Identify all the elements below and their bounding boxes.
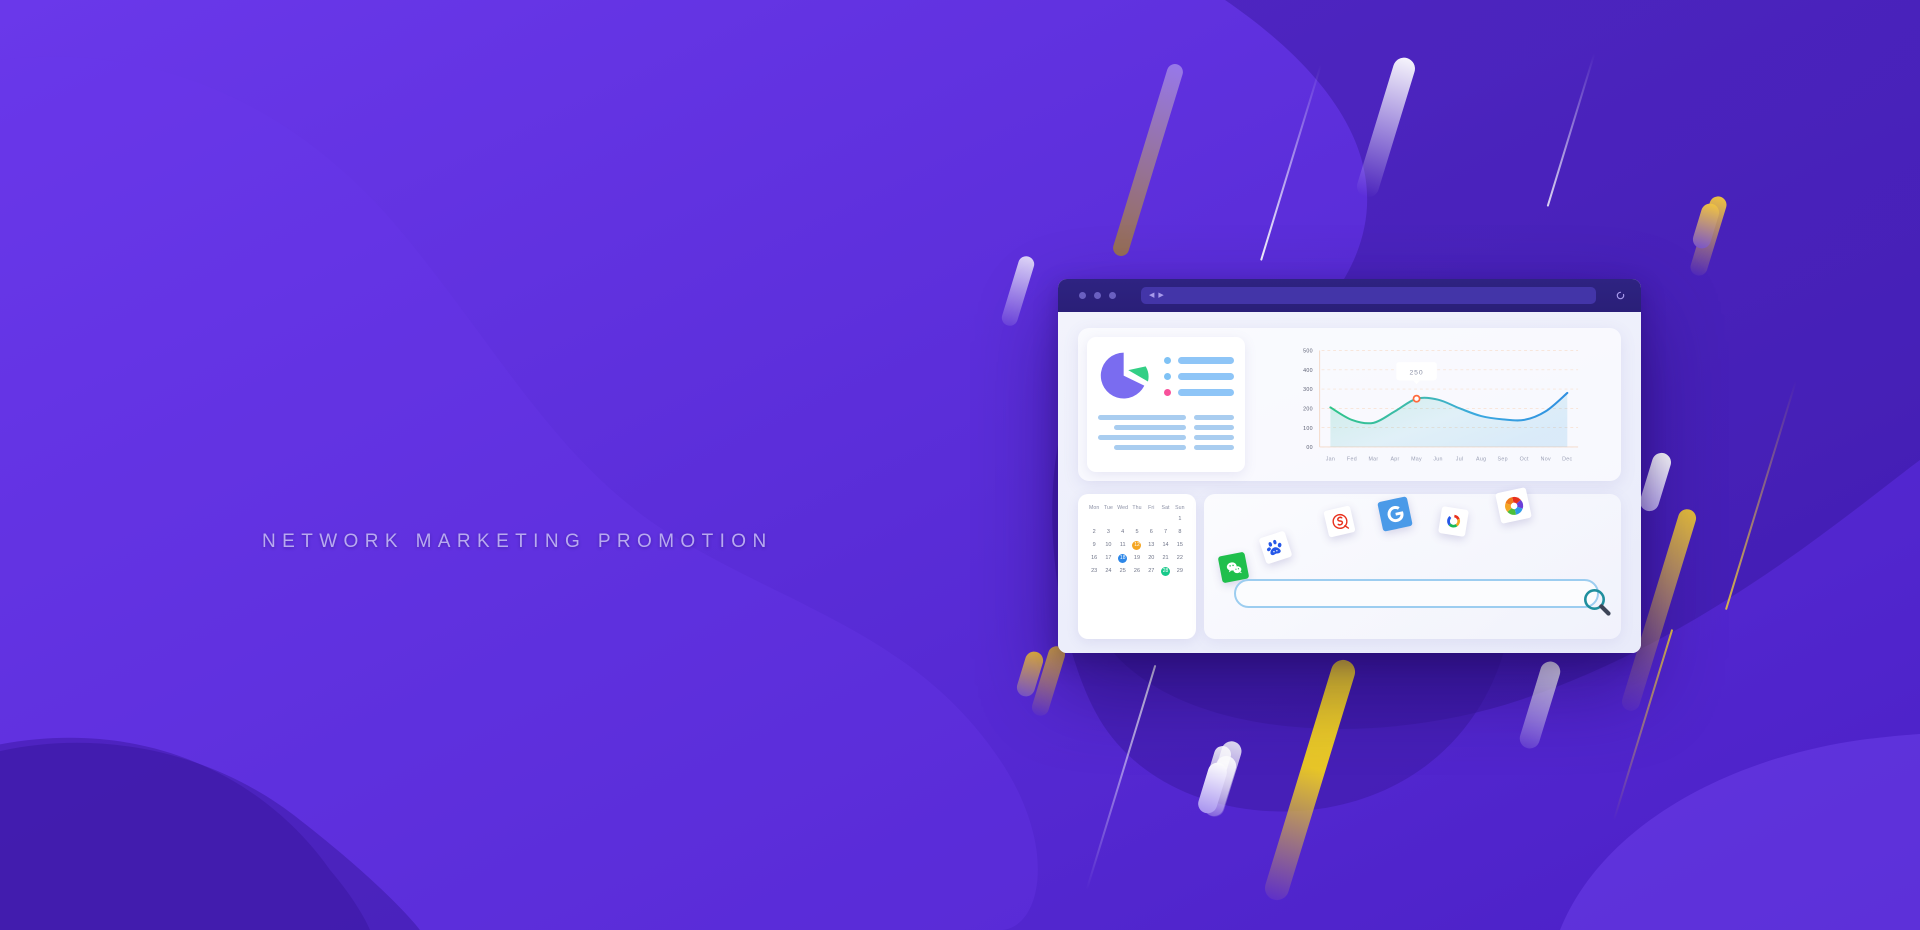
placeholder-line	[1114, 425, 1186, 430]
placeholder-lines-left	[1098, 415, 1186, 450]
maximize-dot-icon[interactable]	[1109, 292, 1116, 299]
calendar-day-cell[interactable]: 18	[1116, 554, 1130, 563]
chart-x-tick-label: Dec	[1562, 456, 1572, 462]
calendar-day-cell[interactable]: 29	[1173, 567, 1187, 576]
chart-y-tick-label: 300	[1303, 387, 1313, 393]
page-root: NETWORK MARKETING PROMOTION ◀ ▶	[0, 0, 1920, 930]
calendar-day-cell[interactable]: 20	[1144, 554, 1158, 563]
chart-x-axis: JanFedMarAprMayJunJulAugSepOctNovDec	[1326, 456, 1573, 462]
pie-legend-row	[1164, 389, 1234, 396]
close-dot-icon[interactable]	[1079, 292, 1086, 299]
calendar-day-cell[interactable]: 10	[1101, 541, 1115, 550]
google-icon[interactable]	[1377, 496, 1413, 532]
legend-dot-icon	[1164, 389, 1171, 396]
calendar-weekday-header: Tue	[1101, 505, 1115, 511]
chart-tooltip-tail	[1413, 380, 1420, 384]
baidu-icon[interactable]	[1258, 530, 1292, 564]
pie-chart-row	[1098, 349, 1234, 404]
dashboard-bottom-panel: MonTueWedThuFriSatSun1234567891011121314…	[1078, 494, 1621, 639]
calendar-day-cell[interactable]: 16	[1087, 554, 1101, 563]
calendar-weekday-header: Wed	[1116, 505, 1130, 511]
calendar-day-cell[interactable]: 8	[1173, 528, 1187, 537]
search-icon[interactable]	[1581, 586, 1613, 623]
placeholder-line	[1098, 435, 1186, 440]
calendar-weekday-header: Sat	[1158, 505, 1172, 511]
calendar-day-cell[interactable]: 5	[1130, 528, 1144, 537]
calendar-day-cell[interactable]: 23	[1087, 567, 1101, 576]
pie-chart-card	[1087, 337, 1245, 472]
page-title: NETWORK MARKETING PROMOTION	[262, 531, 773, 553]
browser-viewport: 50040030020010000 250 JanFedMarAprMayJun…	[1058, 312, 1641, 653]
address-bar[interactable]: ◀ ▶	[1141, 287, 1596, 304]
browser-titlebar: ◀ ▶	[1058, 279, 1641, 312]
calendar-day-cell[interactable]: 3	[1101, 528, 1115, 537]
chart-tooltip-value: 250	[1409, 370, 1423, 377]
placeholder-text-block	[1098, 415, 1234, 450]
placeholder-line	[1114, 445, 1186, 450]
search-panel	[1204, 494, 1621, 639]
line-chart: 50040030020010000 250 JanFedMarAprMayJun…	[1251, 337, 1612, 472]
chart-x-tick-label: Oct	[1520, 456, 1529, 462]
pie-legend	[1164, 357, 1234, 396]
calendar-blank-cell	[1144, 515, 1158, 524]
calendar-day-cell[interactable]: 12	[1130, 541, 1144, 550]
placeholder-line	[1098, 415, 1186, 420]
calendar-day-cell[interactable]: 24	[1101, 567, 1115, 576]
calendar-day-cell[interactable]: 22	[1173, 554, 1187, 563]
sogou-icon[interactable]	[1323, 505, 1355, 537]
aperture-icon[interactable]	[1495, 487, 1532, 524]
calendar-day-cell[interactable]: 4	[1116, 528, 1130, 537]
calendar-day-cell[interactable]: 15	[1173, 541, 1187, 550]
calendar-day-highlight: 12	[1132, 541, 1141, 550]
calendar-day-cell[interactable]: 7	[1158, 528, 1172, 537]
calendar-day-cell[interactable]: 17	[1101, 554, 1115, 563]
calendar-day-cell[interactable]: 26	[1130, 567, 1144, 576]
legend-dot-icon	[1164, 357, 1171, 364]
pie-chart	[1098, 349, 1153, 404]
calendar-day-cell[interactable]: 27	[1144, 567, 1158, 576]
calendar-day-highlight: 18	[1118, 554, 1127, 563]
chart-x-tick-label: Nov	[1541, 456, 1551, 462]
chart-y-tick-label: 100	[1303, 426, 1313, 432]
line-chart-card: 50040030020010000 250 JanFedMarAprMayJun…	[1249, 337, 1612, 472]
legend-dot-icon	[1164, 373, 1171, 380]
calendar-weekday-header: Sun	[1173, 505, 1187, 511]
search-input-wrapper[interactable]	[1234, 579, 1599, 608]
calendar-day-cell[interactable]: 13	[1144, 541, 1158, 550]
chart-x-tick-label: Fed	[1347, 456, 1357, 462]
calendar-day-cell[interactable]: 6	[1144, 528, 1158, 537]
chart-x-tick-label: Mar	[1368, 456, 1378, 462]
placeholder-line	[1194, 445, 1234, 450]
legend-bar	[1178, 357, 1234, 364]
chart-area-fill	[1330, 393, 1567, 447]
calendar-day-cell[interactable]: 21	[1158, 554, 1172, 563]
chart-y-tick-label: 200	[1303, 406, 1313, 412]
reload-icon[interactable]	[1616, 287, 1625, 305]
so360-icon[interactable]	[1438, 506, 1469, 537]
calendar-day-cell[interactable]: 11	[1116, 541, 1130, 550]
calendar-day-cell[interactable]: 25	[1116, 567, 1130, 576]
pie-legend-row	[1164, 373, 1234, 380]
chart-y-tick-label: 400	[1303, 368, 1313, 374]
chart-x-tick-label: Apr	[1390, 456, 1399, 462]
calendar-weekday-header: Mon	[1087, 505, 1101, 511]
calendar-blank-cell	[1116, 515, 1130, 524]
calendar-blank-cell	[1087, 515, 1101, 524]
chart-x-tick-label: Sep	[1498, 456, 1508, 462]
placeholder-lines-right	[1194, 415, 1234, 450]
chart-x-tick-label: Jun	[1433, 456, 1442, 462]
pie-legend-row	[1164, 357, 1234, 364]
calendar-day-cell[interactable]: 2	[1087, 528, 1101, 537]
traffic-lights	[1079, 292, 1116, 299]
legend-bar	[1178, 389, 1234, 396]
search-input[interactable]	[1236, 581, 1597, 606]
minimize-dot-icon[interactable]	[1094, 292, 1101, 299]
calendar-blank-cell	[1158, 515, 1172, 524]
chart-y-tick-label: 500	[1303, 349, 1313, 355]
placeholder-line	[1194, 435, 1234, 440]
chart-x-tick-label: May	[1411, 456, 1422, 462]
calendar-weekday-header: Thu	[1130, 505, 1144, 511]
chevron-left-icon[interactable]: ◀	[1149, 292, 1154, 299]
calendar-day-cell[interactable]: 28	[1158, 567, 1172, 576]
chevron-right-icon[interactable]: ▶	[1158, 292, 1163, 299]
chart-y-tick-label: 00	[1306, 445, 1312, 451]
browser-window: ◀ ▶	[1058, 279, 1641, 653]
calendar-day-cell[interactable]: 19	[1130, 554, 1144, 563]
calendar-grid: MonTueWedThuFriSatSun1234567891011121314…	[1087, 505, 1187, 576]
legend-bar	[1178, 373, 1234, 380]
calendar-widget[interactable]: MonTueWedThuFriSatSun1234567891011121314…	[1078, 494, 1196, 639]
calendar-weekday-header: Fri	[1144, 505, 1158, 511]
chart-x-tick-label: Aug	[1476, 456, 1486, 462]
calendar-blank-cell	[1101, 515, 1115, 524]
chart-x-tick-label: Jul	[1456, 456, 1464, 462]
calendar-day-cell[interactable]: 9	[1087, 541, 1101, 550]
placeholder-line	[1194, 425, 1234, 430]
calendar-day-highlight: 28	[1161, 567, 1170, 576]
chart-marker-dot[interactable]	[1413, 396, 1419, 402]
placeholder-line	[1194, 415, 1234, 420]
calendar-day-cell[interactable]: 1	[1173, 515, 1187, 524]
chart-x-tick-label: Jan	[1326, 456, 1335, 462]
chart-y-axis: 50040030020010000	[1303, 349, 1313, 451]
calendar-blank-cell	[1130, 515, 1144, 524]
calendar-day-cell[interactable]: 14	[1158, 541, 1172, 550]
dashboard-top-panel: 50040030020010000 250 JanFedMarAprMayJun…	[1078, 328, 1621, 481]
